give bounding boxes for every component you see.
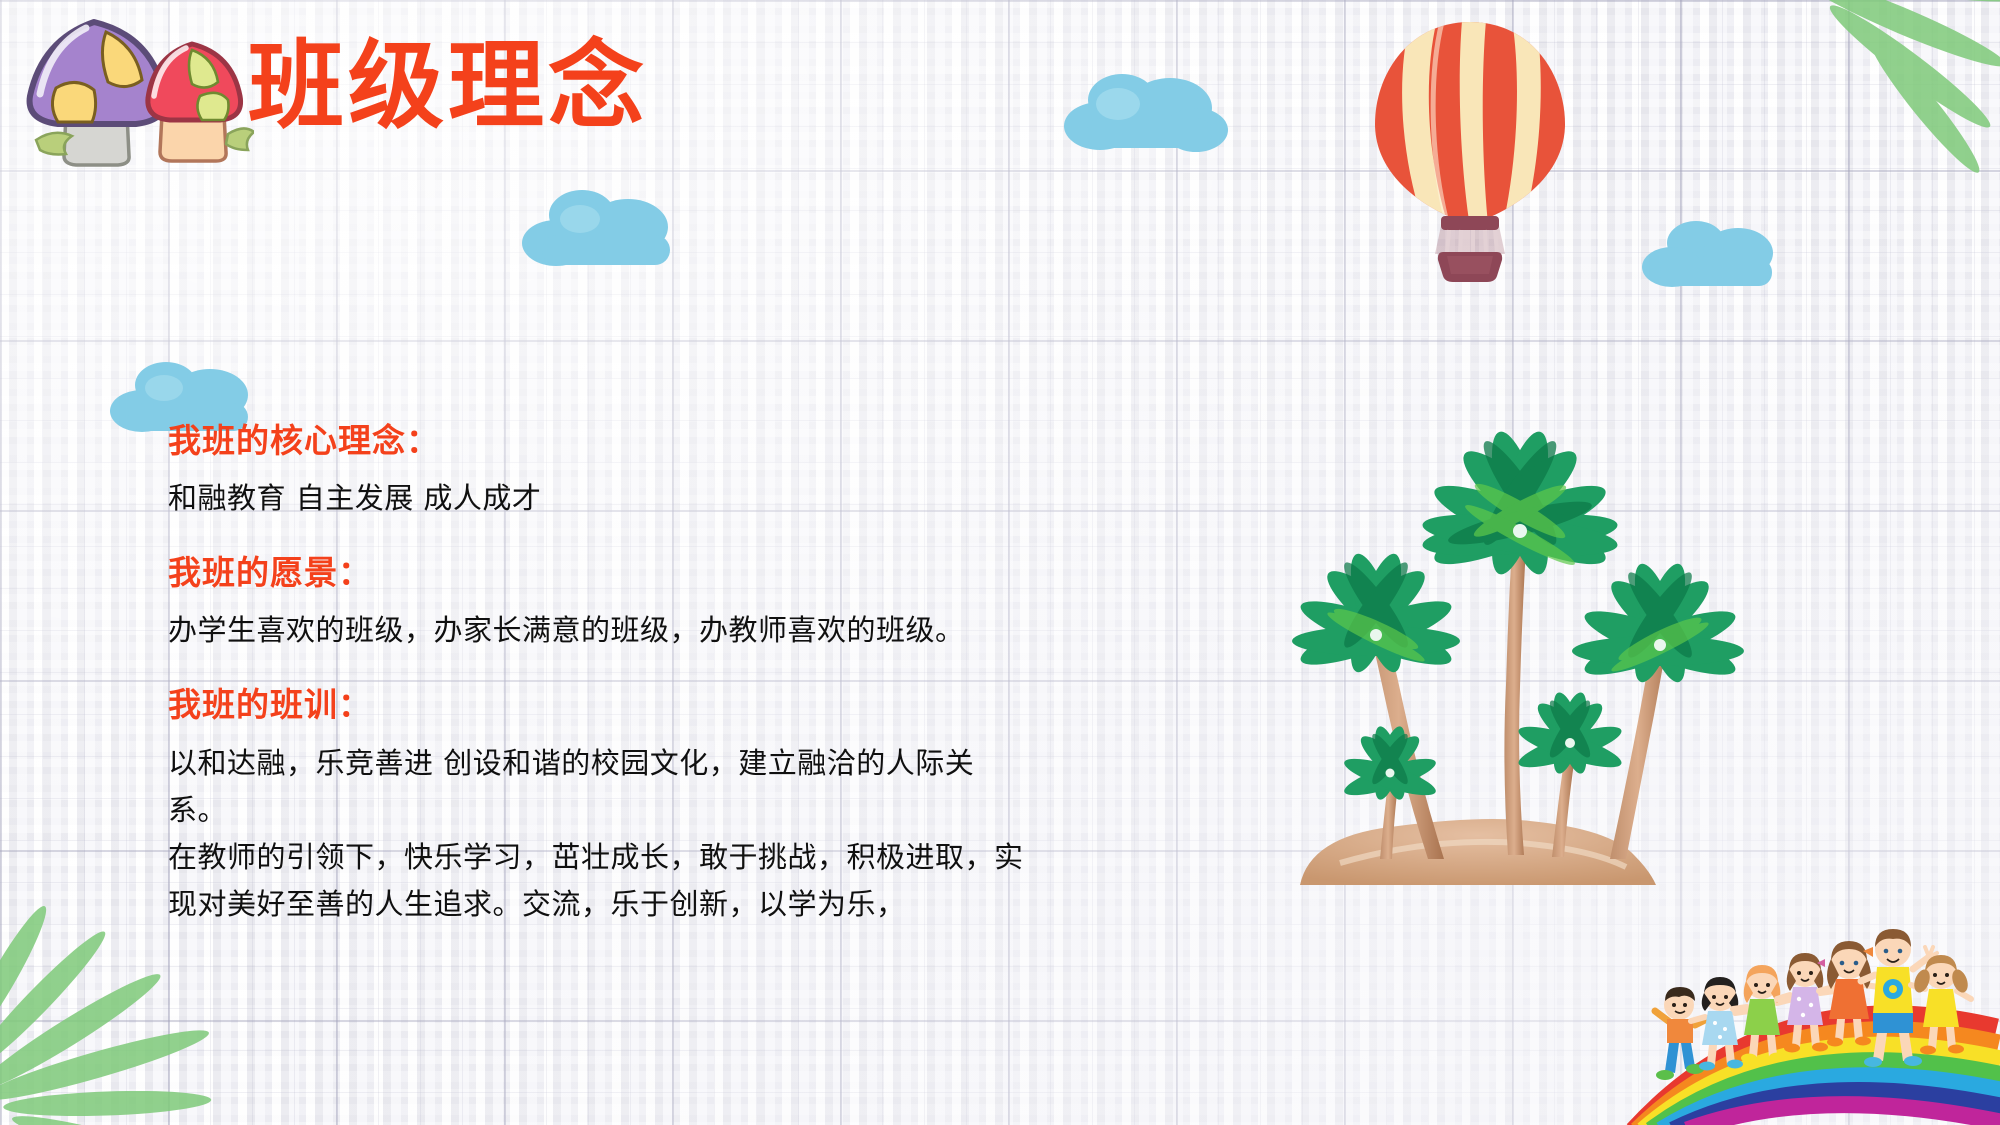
hot-air-balloon-icon: [1355, 8, 1585, 283]
rainbow-children-icon: [1625, 915, 2000, 1125]
section-heading: 我班的核心理念：: [168, 420, 1028, 461]
content-body: 我班的核心理念： 和融教育 自主发展 成人成才 我班的愿景： 办学生喜欢的班级，…: [168, 420, 1028, 934]
section-body: 以和达融，乐竞善进 创设和谐的校园文化，建立融洽的人际关系。 在教师的引领下，快…: [168, 740, 1028, 928]
section-motto: 我班的班训： 以和达融，乐竞善进 创设和谐的校园文化，建立融洽的人际关系。 在教…: [168, 684, 1028, 927]
leaf-frond-icon: [0, 900, 240, 1125]
section-vision: 我班的愿景： 办学生喜欢的班级，办家长满意的班级，办教师喜欢的班级。: [168, 552, 1028, 654]
section-body: 办学生喜欢的班级，办家长满意的班级，办教师喜欢的班级。: [168, 607, 1028, 654]
page-title: 班级理念: [248, 38, 648, 134]
palm-trees-icon: [1190, 385, 1750, 885]
mushroom-purple-icon: [14, 10, 254, 170]
section-heading: 我班的班训：: [168, 684, 1028, 725]
section-body: 和融教育 自主发展 成人成才: [168, 475, 1028, 522]
cloud-icon: [520, 185, 690, 277]
cloud-icon: [1640, 215, 1790, 295]
section-heading: 我班的愿景：: [168, 552, 1028, 593]
cloud-icon: [1060, 68, 1240, 158]
section-core-philosophy: 我班的核心理念： 和融教育 自主发展 成人成才: [168, 420, 1028, 522]
slide-canvas: 班级理念: [0, 0, 2000, 1125]
leaf-frond-icon: [1780, 0, 2000, 230]
